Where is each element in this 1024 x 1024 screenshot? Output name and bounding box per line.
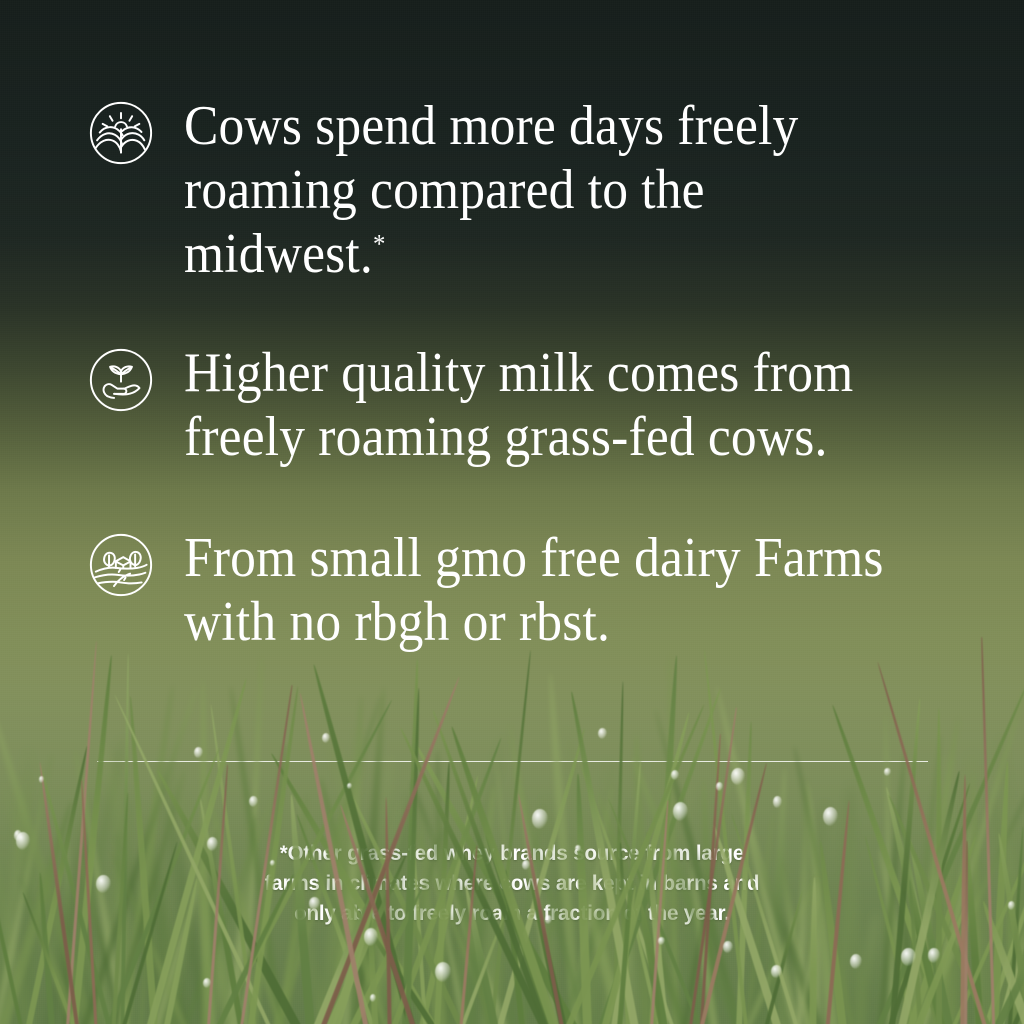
dew-drop: [671, 770, 679, 780]
dew-drop: [658, 937, 665, 945]
benefit-text-3: From small gmo free dairy Farms with no …: [184, 526, 928, 654]
benefit-text-2: Higher quality milk comes from freely ro…: [184, 341, 928, 469]
dew-drop: [522, 860, 530, 870]
benefit-item-3: From small gmo free dairy Farms with no …: [88, 526, 993, 654]
dew-drop: [771, 965, 782, 979]
benefit-item-2: Higher quality milk comes from freely ro…: [88, 341, 993, 469]
dew-drop: [39, 776, 44, 782]
farm-barn-fields-icon: [88, 532, 154, 598]
dew-drop: [370, 994, 376, 1002]
dew-drop: [322, 733, 330, 743]
dew-drop: [884, 768, 890, 776]
dew-drop: [545, 915, 552, 924]
dew-drop: [16, 832, 30, 850]
dew-drop: [850, 954, 862, 969]
dew-drop: [309, 897, 319, 910]
promo-canvas: Cows spend more days freely roaming comp…: [0, 0, 1024, 1024]
dew-drop: [928, 948, 939, 962]
benefit-text-1-body: Cows spend more days freely roaming comp…: [184, 95, 798, 285]
benefit-text-1-marker: *: [373, 228, 386, 258]
dew-drop: [773, 796, 783, 808]
dew-drop: [901, 948, 915, 966]
sun-over-fields-icon: [88, 100, 154, 166]
hand-holding-sprout-icon: [88, 347, 154, 413]
dew-drop: [96, 875, 111, 893]
dew-drop: [723, 941, 732, 953]
benefit-text-1: Cows spend more days freely roaming comp…: [184, 94, 905, 286]
dew-drop: [575, 845, 581, 852]
benefit-item-1: Cows spend more days freely roaming comp…: [88, 94, 968, 286]
dew-drop: [532, 809, 547, 828]
